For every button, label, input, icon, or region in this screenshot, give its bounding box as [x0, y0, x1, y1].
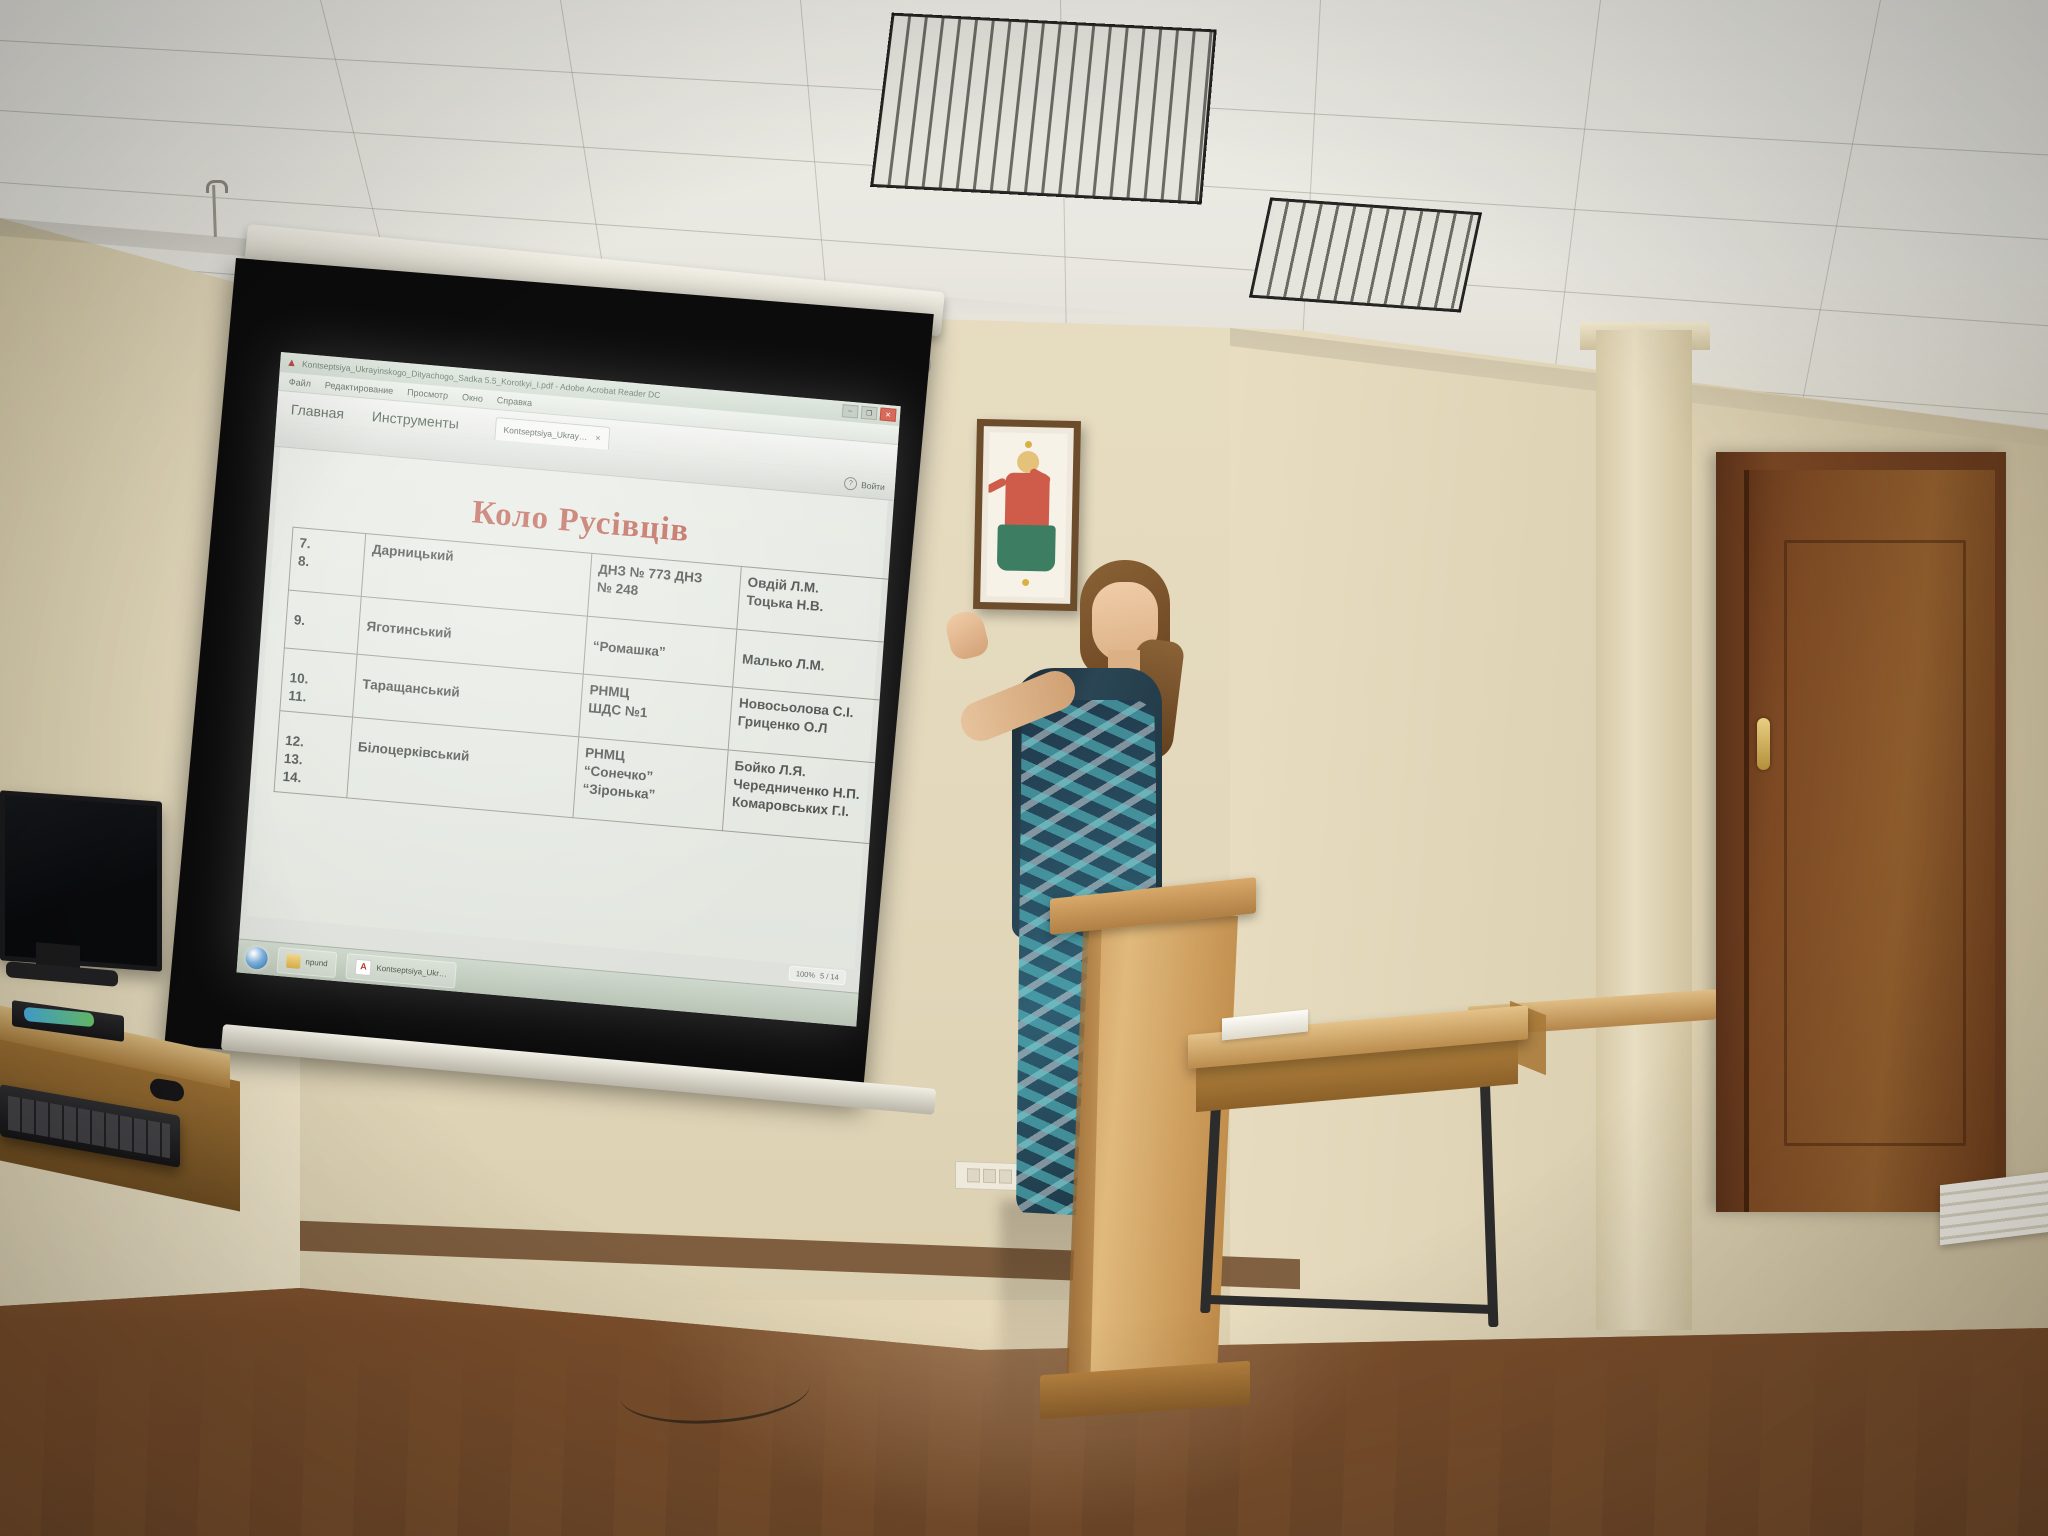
institution: “Зіронька” [582, 781, 656, 802]
institution: РНМЦ [589, 683, 630, 701]
row-number: 10. [289, 655, 349, 692]
institution: “Ромашка” [592, 623, 729, 666]
classroom-scene: ▲ Kontseptsiya_Ukrayinskogo_Dityachogo_S… [0, 0, 2048, 1536]
screen-mount-hook [206, 180, 228, 193]
maximize-button[interactable]: ❐ [861, 406, 878, 420]
row-number: 11. [288, 688, 307, 705]
institution: № 248 [596, 579, 638, 598]
taskbar-item-folder[interactable]: npund [277, 946, 338, 977]
close-button[interactable]: ✕ [880, 407, 897, 421]
row-number: 14. [282, 768, 302, 785]
taskbar-item-pdf[interactable]: A Kontseptsiya_Ukr… [346, 953, 457, 988]
institution: ШДС №1 [588, 700, 648, 720]
row-number: 13. [283, 751, 303, 768]
pdf-page: Коло Русівців 7. 8. Дарницький ДНЗ № 773… [247, 447, 888, 969]
menu-item-edit[interactable]: Редактирование [325, 380, 394, 396]
row-numbers: 9. [284, 590, 361, 655]
folder-icon [286, 953, 301, 968]
page-navigation[interactable]: 100% 5 / 14 [788, 966, 846, 986]
framed-embroidery-artwork [973, 419, 1081, 611]
help-icon[interactable]: ? [844, 477, 858, 491]
row-number: 12. [285, 718, 345, 755]
sign-in-label[interactable]: Войти [861, 480, 885, 492]
projected-pdf-window[interactable]: ▲ Kontseptsiya_Ukrayinskogo_Dityachogo_S… [237, 352, 901, 1027]
tab-document-label: Kontseptsiya_Ukray… [503, 425, 587, 442]
menu-item-file[interactable]: Файл [289, 377, 312, 389]
institution: РНМЦ [585, 745, 626, 763]
institution-cell: РНМЦ “Сонечко” “Зіронька” [573, 737, 728, 830]
row-number: 9. [293, 597, 353, 634]
desktop-monitor [0, 790, 162, 971]
door-handle[interactable] [1757, 718, 1770, 770]
row-numbers: 10. 11. [280, 648, 357, 717]
menu-item-window[interactable]: Окно [462, 392, 484, 404]
minimize-button[interactable]: – [842, 404, 859, 418]
page-indicator[interactable]: 5 / 14 [820, 971, 839, 982]
row-numbers: 12. 13. 14. [274, 711, 352, 798]
start-orb-icon[interactable] [245, 946, 268, 970]
menu-item-help[interactable]: Справка [496, 395, 532, 408]
close-icon[interactable]: × [595, 433, 601, 443]
wall-pilaster [1596, 330, 1692, 1330]
sign-in-control[interactable]: ? Войти [844, 477, 886, 494]
door-panel [1784, 540, 1966, 1146]
taskbar-item-label: npund [305, 957, 328, 968]
pdf-icon: A [355, 958, 372, 975]
taskbar-item-label: Kontseptsiya_Ukr… [376, 964, 447, 979]
adobe-pdf-icon: ▲ [286, 357, 298, 369]
slide-table: 7. 8. Дарницький ДНЗ № 773 ДНЗ № 248 Овд… [274, 527, 901, 848]
wall-power-outlet [955, 1161, 1023, 1191]
window-controls[interactable]: – ❐ ✕ [842, 404, 897, 422]
recessed-ceiling-light [1249, 197, 1482, 312]
zoom-level[interactable]: 100% [796, 969, 816, 980]
menu-item-view[interactable]: Просмотр [407, 387, 449, 401]
recessed-ceiling-light [870, 13, 1217, 205]
row-number: 8. [298, 553, 310, 569]
row-numbers: 7. 8. [289, 527, 366, 596]
monitor-screen [5, 796, 157, 967]
row-number: 7. [299, 535, 311, 551]
